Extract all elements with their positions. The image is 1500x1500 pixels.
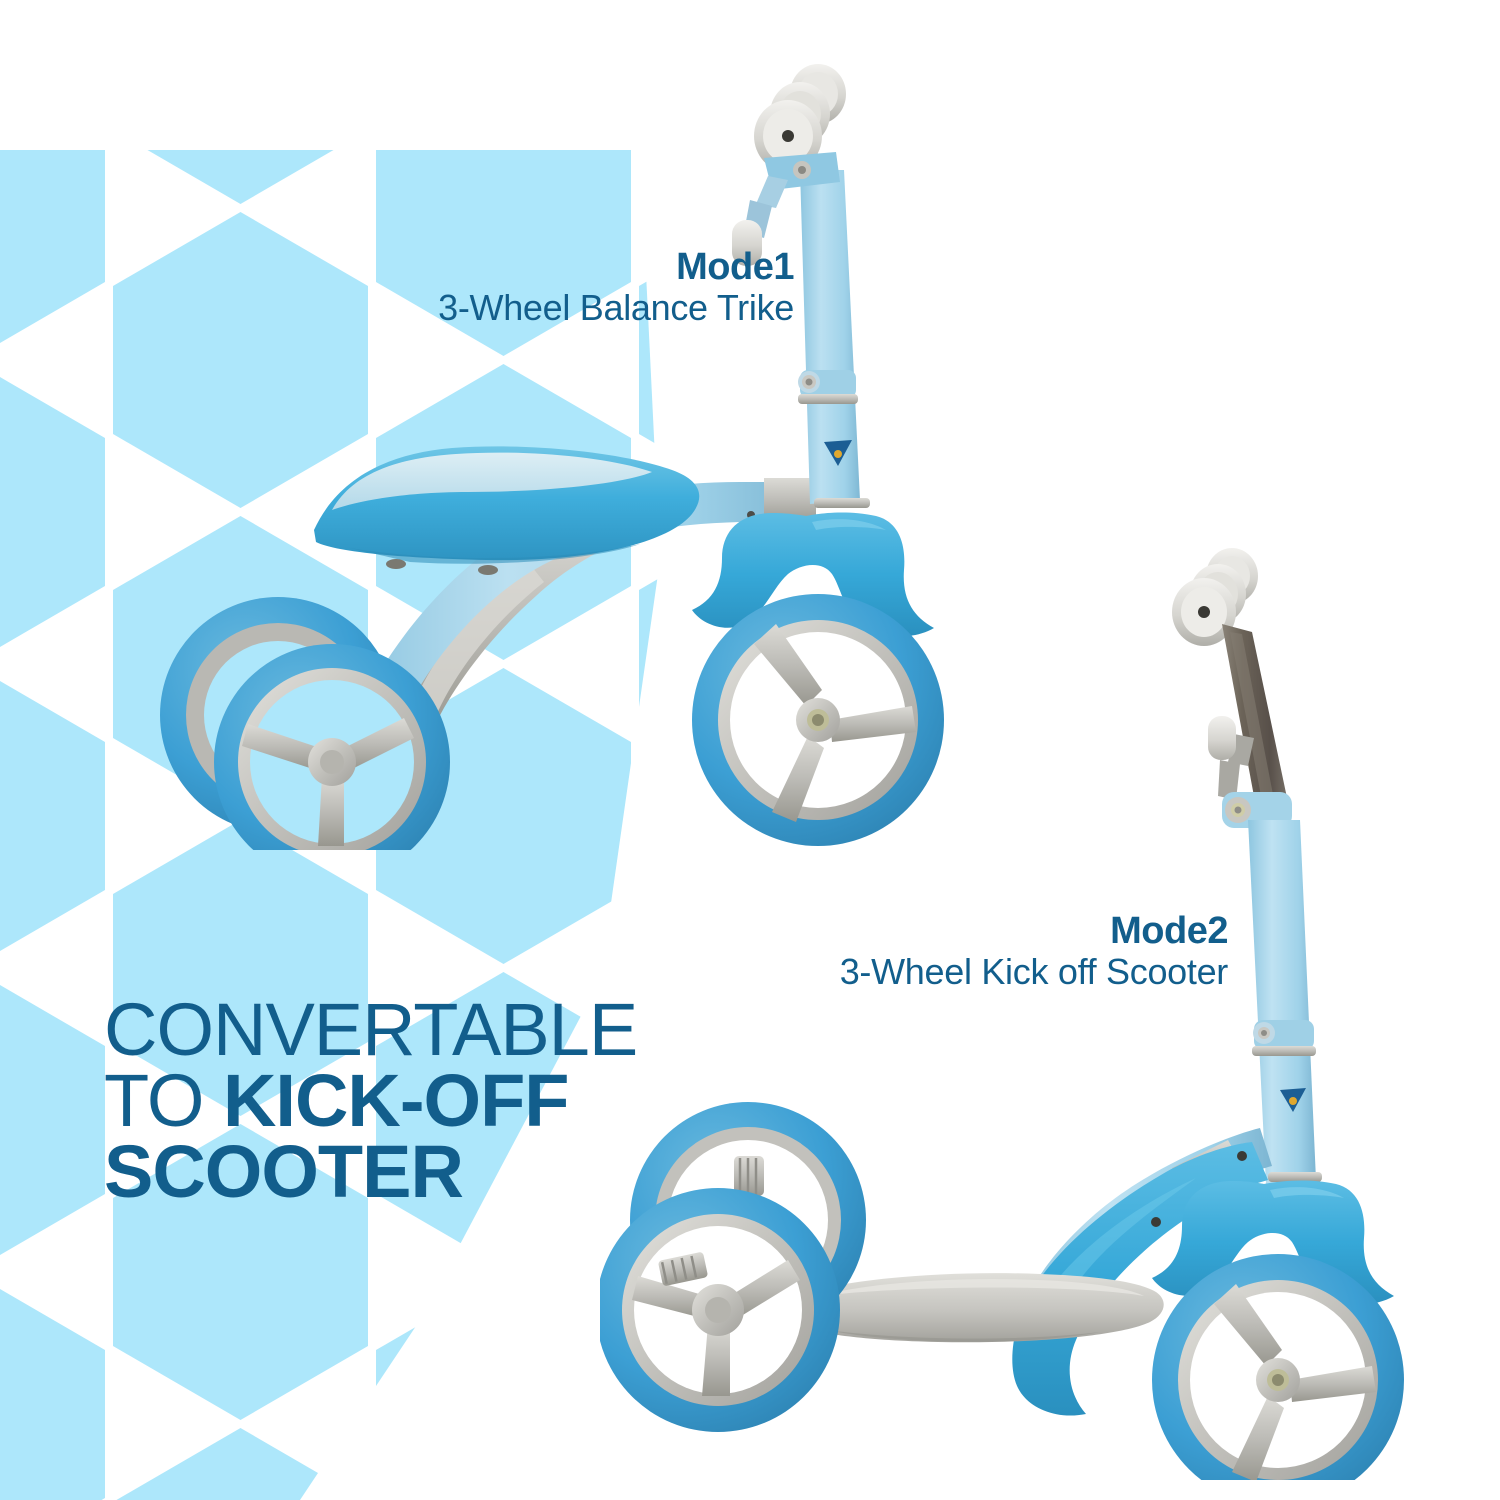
headline-line-2: TO KICK-OFF bbox=[104, 1065, 637, 1136]
headline-line-1: CONVERTABLE bbox=[104, 994, 637, 1065]
mode1-stem-clamp bbox=[798, 370, 858, 404]
mode2-rear-wheel-near bbox=[600, 1188, 840, 1432]
mode1-handlebar bbox=[754, 64, 846, 190]
mode1-subtitle: 3-Wheel Balance Trike bbox=[374, 290, 794, 326]
mode1-label: Mode1 3-Wheel Balance Trike bbox=[374, 248, 794, 326]
mode2-label: Mode2 3-Wheel Kick off Scooter bbox=[728, 912, 1228, 990]
mode1-title: Mode1 bbox=[374, 248, 794, 286]
product-banner: Mode1 3-Wheel Balance Trike Mode2 3-Whee… bbox=[0, 0, 1500, 1500]
product-mode2-kick-off-scooter bbox=[600, 520, 1500, 1480]
headline-line-3: SCOOTER bbox=[104, 1136, 637, 1207]
headline: CONVERTABLE TO KICK-OFF SCOOTER bbox=[104, 994, 637, 1207]
mode1-steering-column bbox=[798, 170, 870, 508]
mode2-subtitle: 3-Wheel Kick off Scooter bbox=[728, 954, 1228, 990]
mode2-title: Mode2 bbox=[728, 912, 1228, 950]
